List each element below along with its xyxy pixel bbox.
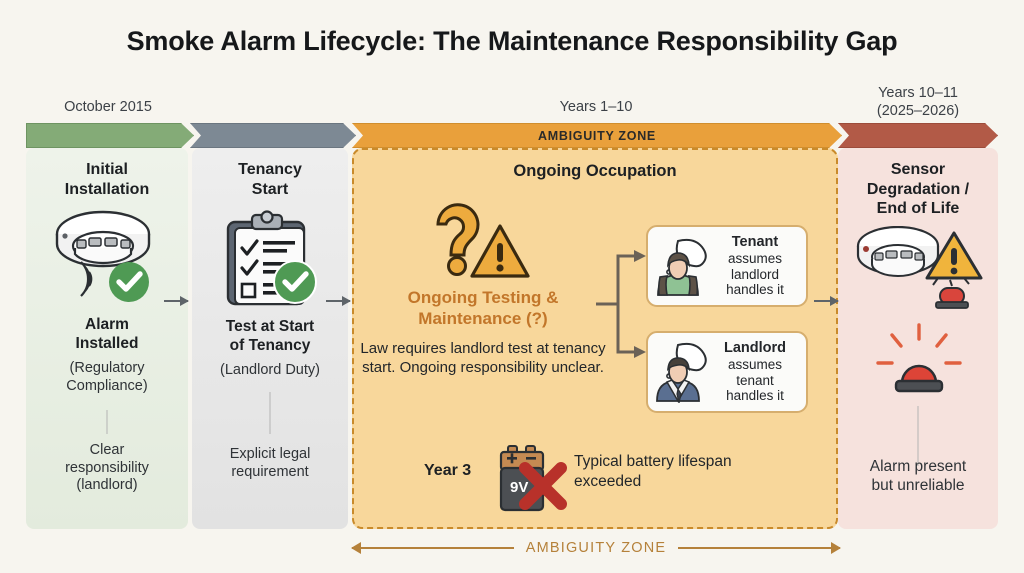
connector-arrow-3 xyxy=(814,300,838,302)
belief-card-landlord-rest: assumestenanthandles it xyxy=(710,357,800,404)
belief-card-landlord: Landlord assumestenanthandles it xyxy=(646,331,808,413)
battery-label: 9V xyxy=(510,479,528,496)
smoke-alarm-check-icon xyxy=(45,206,169,315)
question-warning-icon xyxy=(418,200,536,289)
period-label-3: Years 10–11 (2025–2026) xyxy=(838,84,998,120)
page-title: Smoke Alarm Lifecycle: The Maintenance R… xyxy=(0,26,1024,57)
siren-alert-icon xyxy=(874,323,964,402)
connector-arrow-2 xyxy=(326,300,350,302)
belief-card-tenant-who: Tenant xyxy=(732,234,778,250)
ambiguity-measure-label: AMBIGUITY ZONE xyxy=(514,540,679,556)
belief-card-landlord-text: Landlord assumestenanthandles it xyxy=(710,340,800,404)
stage-panel-initial-installation: InitialInstallation AlarmInstalled (Regu xyxy=(26,148,188,529)
ambiguity-measure-right xyxy=(678,547,840,549)
period-label-1: October 2015 xyxy=(26,98,190,116)
stage-caption-sub-2: (Landlord Duty) xyxy=(192,362,348,380)
stage-divider-2 xyxy=(270,392,271,434)
branch-connector xyxy=(596,244,652,364)
stage-panel-tenancy-start: TenancyStart Test at Startof Tenanc xyxy=(192,148,348,529)
stage-divider-1 xyxy=(107,410,108,434)
stage-divider-4 xyxy=(918,406,919,466)
battery-text: Typical battery lifespan exceeded xyxy=(574,452,774,491)
ambiguity-measure-left xyxy=(352,547,514,549)
center-title: Ongoing Testing &Maintenance (?) xyxy=(358,287,608,330)
stage-banner-initial-installation xyxy=(26,123,194,148)
stage-footer-1: Clearresponsibility(landlord) xyxy=(26,442,188,495)
stage-banner-tenancy-start xyxy=(190,123,356,148)
stage-footer-4: Alarm presentbut unreliable xyxy=(838,458,998,496)
stage-footer-2: Explicit legalrequirement xyxy=(192,446,348,481)
period-label-2: Years 1–10 xyxy=(352,98,840,116)
belief-card-tenant: Tenant assumeslandlordhandles it xyxy=(646,225,808,307)
stage-banner-end-of-life xyxy=(838,123,998,148)
belief-card-landlord-who: Landlord xyxy=(724,340,786,356)
ambiguity-zone-measure: AMBIGUITY ZONE xyxy=(352,535,840,561)
stage-heading-2: TenancyStart xyxy=(192,160,348,199)
period-label-3-main: Years 10–11 xyxy=(838,84,998,102)
connector-arrow-1 xyxy=(164,300,188,302)
stage-caption-bold-1: AlarmInstalled xyxy=(26,316,188,353)
belief-card-tenant-rest: assumeslandlordhandles it xyxy=(710,251,800,298)
stage-heading-3: Ongoing Occupation xyxy=(354,161,836,181)
infographic-canvas: Smoke Alarm Lifecycle: The Maintenance R… xyxy=(0,0,1024,573)
battery-cross-icon: 9V xyxy=(492,438,574,523)
belief-card-tenant-text: Tenant assumeslandlordhandles it xyxy=(710,234,800,298)
stage-panel-sensor-degradation: SensorDegradation /End of Life xyxy=(838,148,998,529)
stage-heading-1: InitialInstallation xyxy=(26,160,188,199)
landlord-avatar-icon xyxy=(652,341,710,403)
stage-caption-sub-1: (RegulatoryCompliance) xyxy=(26,360,188,395)
clipboard-check-icon xyxy=(216,210,326,315)
tenant-avatar-icon xyxy=(652,235,710,297)
period-label-3-sub: (2025–2026) xyxy=(838,102,998,120)
smoke-alarm-warning-icon xyxy=(850,226,986,315)
stage-caption-bold-2: Test at Startof Tenancy xyxy=(192,318,348,355)
stage-heading-4: SensorDegradation /End of Life xyxy=(838,160,998,219)
center-body: Law requires landlord test at tenancy st… xyxy=(352,339,614,377)
stage-banner-ambiguity-zone: AMBIGUITY ZONE xyxy=(352,123,842,148)
battery-year-label: Year 3 xyxy=(424,462,471,480)
